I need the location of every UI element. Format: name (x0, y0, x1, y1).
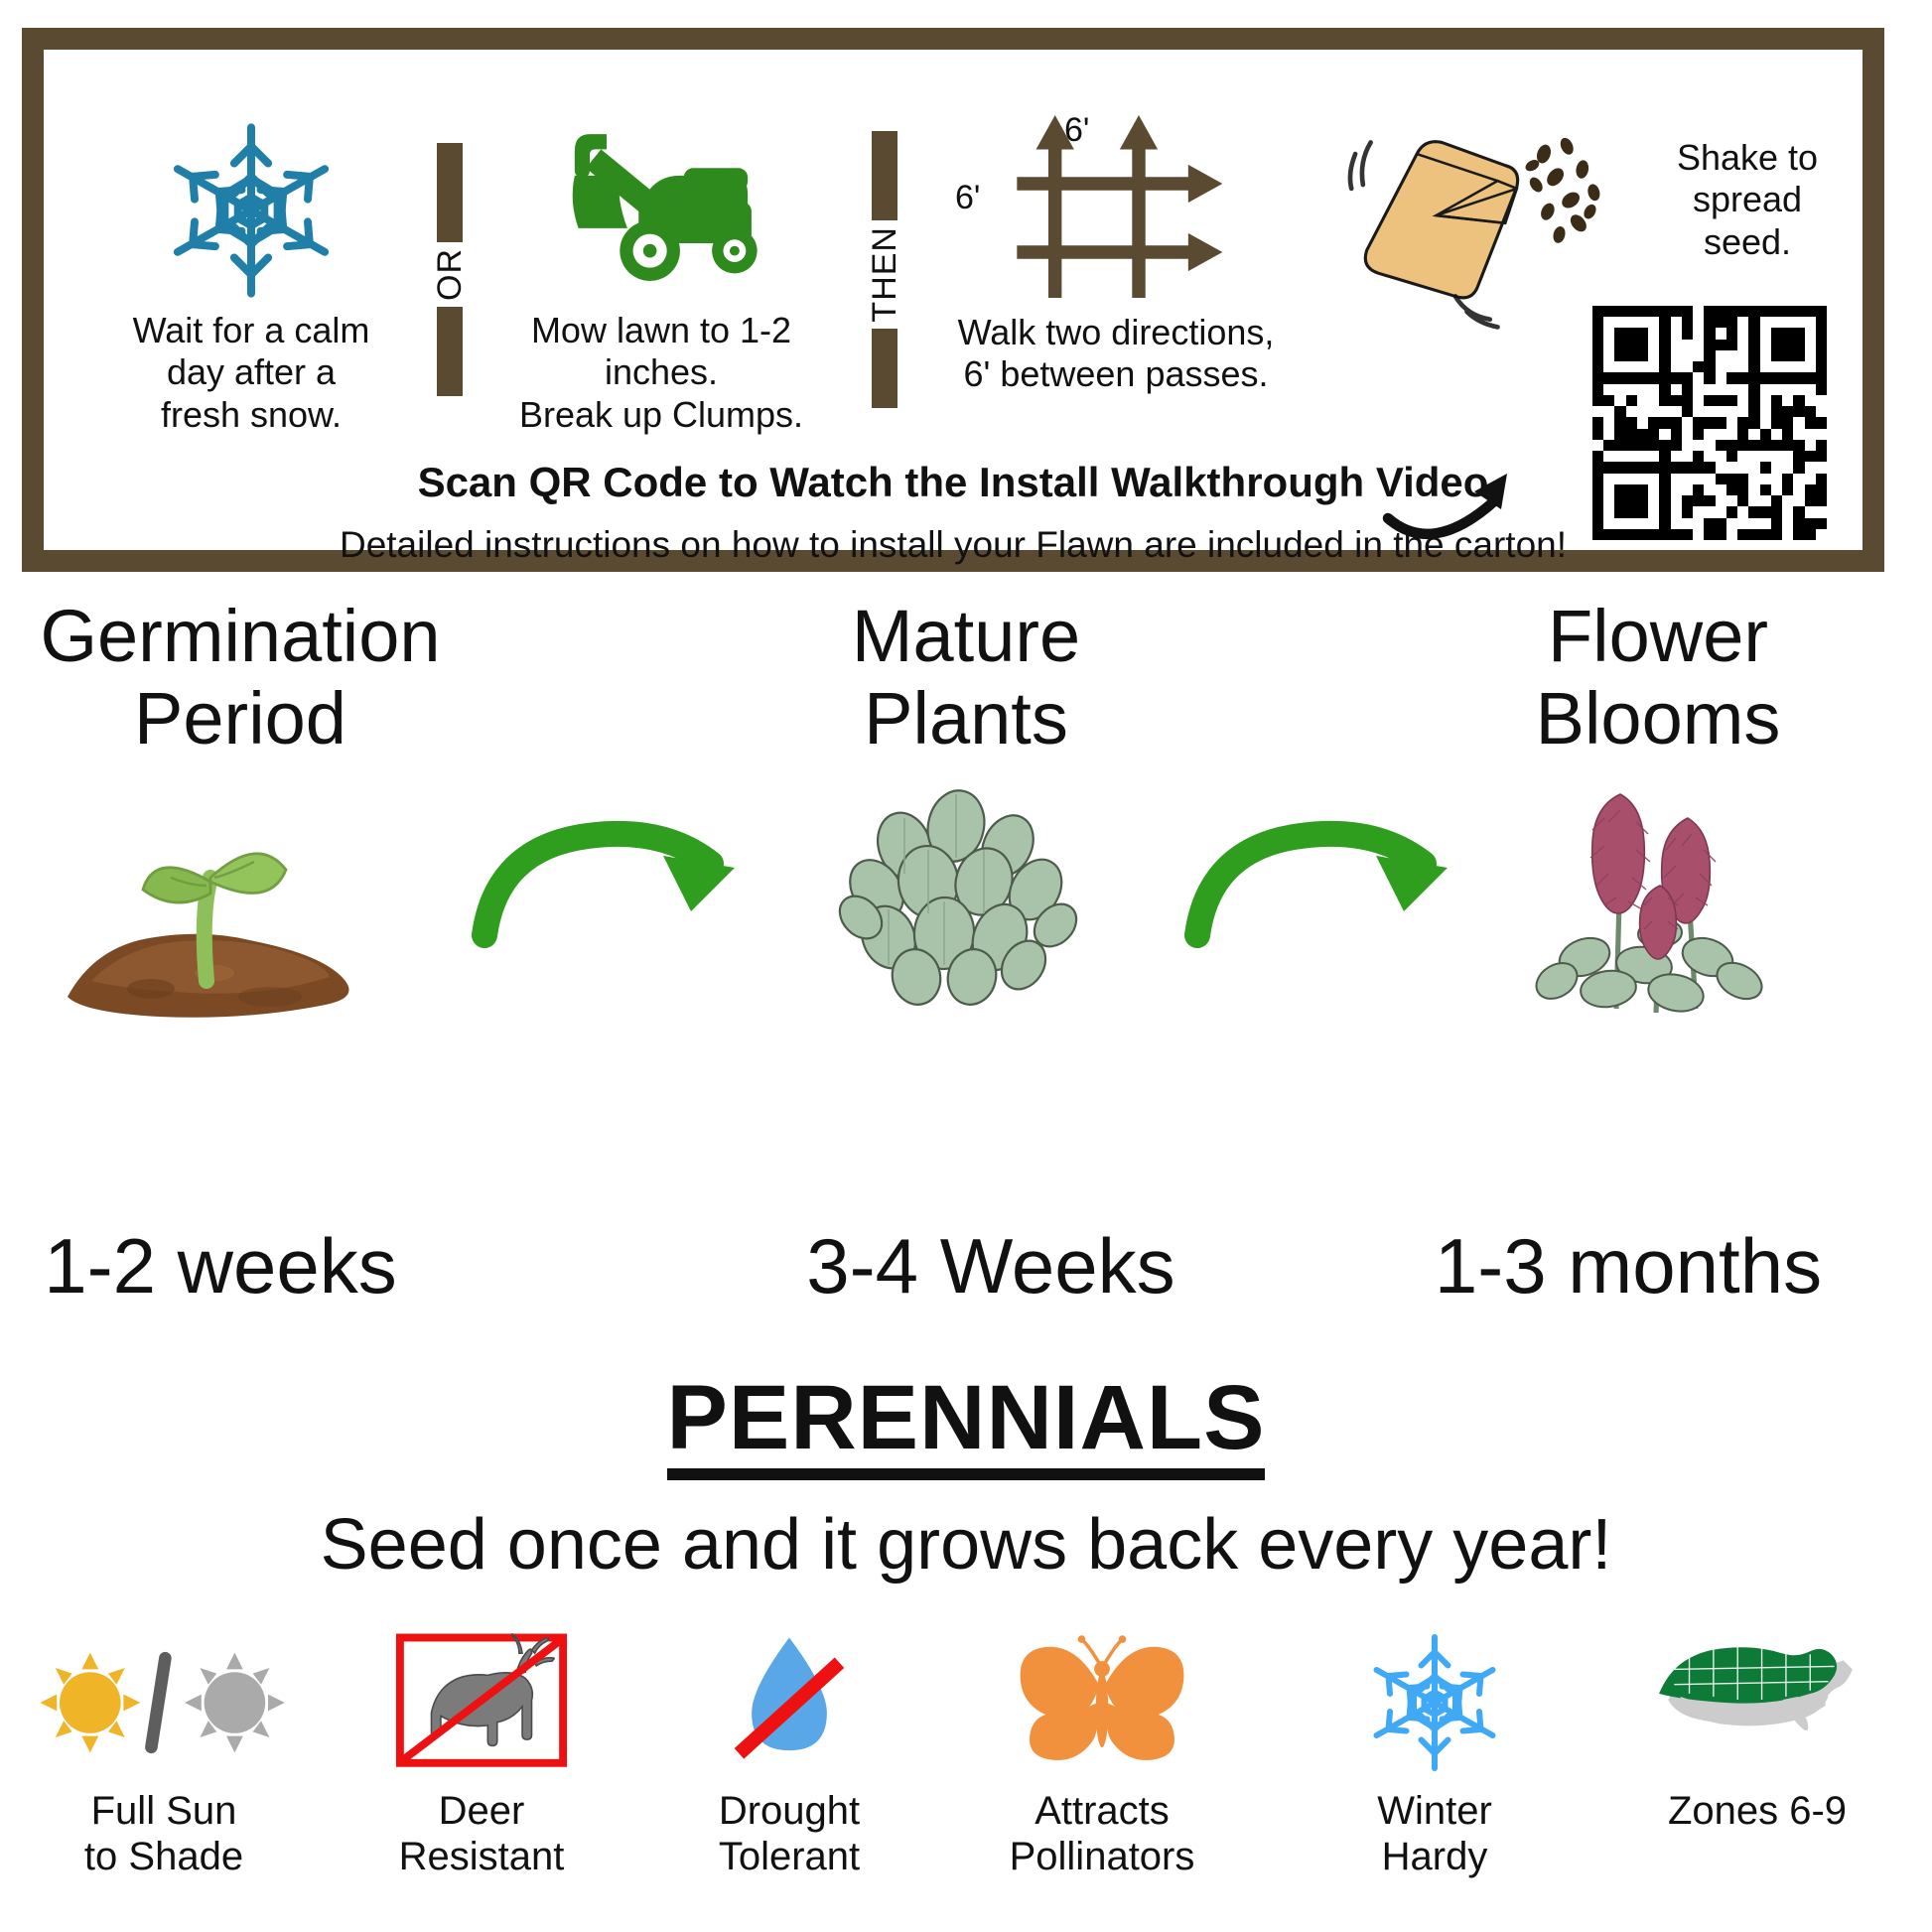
crimson-clover-blooms-icon (1380, 774, 1932, 1023)
feature-label: Zones 6-9 (1598, 1789, 1916, 1835)
snowflake-icon (1360, 1628, 1509, 1777)
feature-winter-hardy: WinterHardy (1291, 1628, 1579, 1879)
grid-label-horizontal: 6' (1064, 111, 1089, 150)
how-to-use-panel: Wait for a calmday after afresh snow. OR (22, 28, 1884, 572)
stage-mature-plants: MaturePlants (688, 596, 1244, 1023)
feature-label: Full Sunto Shade (20, 1789, 308, 1879)
detailed-instructions-note: Detailed instructions on how to install … (44, 524, 1863, 566)
feature-drought-tolerant: DroughtTolerant (645, 1628, 933, 1879)
divider-bar-top (437, 143, 463, 242)
divider-or: OR (437, 143, 463, 411)
feature-attracts-pollinators: AttractsPollinators (943, 1628, 1261, 1879)
feature-deer-resistant: DeerResistant (338, 1628, 625, 1879)
clover-foliage-icon (688, 774, 1244, 1023)
step-walk-two-directions: 6' 6' Walk two directions,6' between pas… (917, 101, 1314, 396)
walking-grid-icon (1002, 107, 1230, 306)
divider-then: THEN (872, 131, 897, 429)
seed-bag-shake-icon (1328, 103, 1636, 332)
usa-zone-map-icon (1643, 1633, 1871, 1772)
perennials-section: PERENNIALS Seed once and it grows back e… (0, 1370, 1932, 1585)
duration-germination: 1-2 weeks (0, 1221, 498, 1311)
water-drop-slash-icon (705, 1628, 874, 1777)
sun-shade-icon (30, 1633, 298, 1772)
stage-flower-blooms: FlowerBlooms (1380, 596, 1932, 1023)
lawn-mower-icon (547, 119, 775, 298)
perennials-subtitle: Seed once and it grows back every year! (0, 1506, 1932, 1585)
step-wait-for-calm-day: Wait for a calmday after afresh snow. (87, 111, 415, 436)
grid-label-vertical: 6' (955, 179, 980, 217)
divider-bar-top (872, 131, 897, 220)
step-mow-lawn: Mow lawn to 1-2inches.Break up Clumps. (492, 107, 830, 436)
deer-resistant-icon (387, 1628, 576, 1777)
step-caption: Wait for a calmday after afresh snow. (87, 310, 415, 436)
stage-title: GerminationPeriod (0, 596, 518, 760)
snowflake-icon (157, 116, 345, 305)
divider-bar-bottom (437, 307, 463, 396)
feature-label: AttractsPollinators (943, 1789, 1261, 1879)
stage-title: MaturePlants (688, 596, 1244, 760)
growth-durations: 1-2 weeks 3-4 Weeks 1-3 months (0, 1221, 1932, 1330)
feature-label: DeerResistant (338, 1789, 625, 1879)
scan-qr-headline: Scan QR Code to Watch the Install Walkth… (44, 459, 1863, 506)
feature-label: DroughtTolerant (645, 1789, 933, 1879)
step-caption: Mow lawn to 1-2inches.Break up Clumps. (492, 310, 830, 436)
stage-title: FlowerBlooms (1380, 596, 1932, 760)
perennials-heading: PERENNIALS (667, 1370, 1266, 1480)
divider-label: OR (431, 242, 470, 307)
feature-full-sun-to-shade: Full Sunto Shade (20, 1628, 308, 1879)
feature-label: WinterHardy (1291, 1789, 1579, 1879)
seedling-in-soil-icon (0, 774, 518, 1023)
feature-zones: Zones 6-9 (1598, 1628, 1916, 1835)
duration-mature: 3-4 Weeks (713, 1221, 1269, 1311)
product-infographic: Wait for a calmday after afresh snow. OR (0, 0, 1932, 1932)
duration-bloom: 1-3 months (1350, 1221, 1906, 1311)
divider-label: THEN (866, 220, 904, 329)
stage-germination: GerminationPeriod (0, 596, 518, 1023)
step-caption: Walk two directions,6' between passes. (917, 312, 1314, 396)
divider-bar-bottom (872, 329, 897, 408)
growth-stages: GerminationPeriod (0, 596, 1932, 1112)
butterfly-icon (1003, 1628, 1201, 1777)
feature-icons-row: Full Sunto Shade DeerResistant (0, 1628, 1932, 1926)
step-caption: Shake tospreadseed. (1638, 137, 1857, 263)
